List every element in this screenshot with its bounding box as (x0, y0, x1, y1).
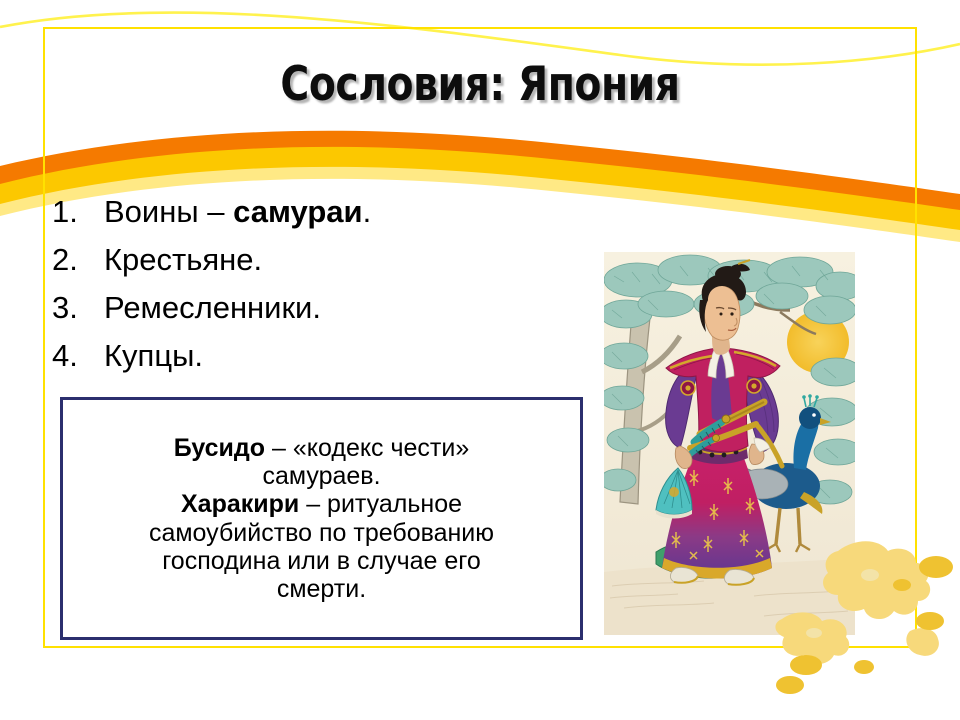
list-item-label: Крестьяне. (104, 244, 262, 275)
page-title: Сословия: Япония (34, 57, 927, 112)
list-item-label: Воины – самураи. (104, 196, 371, 227)
list-item: 2. Крестьяне. (52, 244, 572, 275)
harakiri-definition-line2: самоубийство по требованию (149, 519, 494, 547)
estates-list: 1. Воины – самураи. 2. Крестьяне. 3. Рем… (52, 196, 572, 388)
list-item-number: 3. (52, 292, 104, 323)
definition-box-text: Бусидо – «кодекс чести» самураев. Хараки… (143, 434, 500, 604)
list-item-emphasis: самураи (233, 194, 362, 229)
bushido-definition: – «кодекс чести» (265, 434, 469, 462)
list-item: 4. Купцы. (52, 340, 572, 371)
list-item-text: Крестьяне. (104, 242, 262, 277)
list-item-label: Купцы. (104, 340, 203, 371)
list-item-suffix: . (363, 194, 372, 229)
term-harakiri: Харакири (181, 490, 299, 518)
list-item-text: Ремесленники. (104, 290, 321, 325)
term-bushido: Бусидо (174, 434, 265, 462)
definition-box: Бусидо – «кодекс чести» самураев. Хараки… (60, 397, 583, 640)
bushido-definition-cont: самураев. (262, 462, 380, 490)
list-item-text: Воины – (104, 194, 233, 229)
harakiri-definition-line4: смерти. (277, 575, 366, 603)
list-item-number: 4. (52, 340, 104, 371)
slide: Сословия: Япония 1. Воины – самураи. 2. … (0, 0, 960, 720)
harakiri-definition-line3: господина или в случае его (162, 547, 481, 575)
yellow-splash-decoration (760, 515, 960, 695)
harakiri-definition: – ритуальное (299, 490, 462, 518)
list-item-number: 2. (52, 244, 104, 275)
list-item-label: Ремесленники. (104, 292, 321, 323)
list-item: 1. Воины – самураи. (52, 196, 572, 227)
list-item-number: 1. (52, 196, 104, 227)
list-item-text: Купцы. (104, 338, 203, 373)
list-item: 3. Ремесленники. (52, 292, 572, 323)
